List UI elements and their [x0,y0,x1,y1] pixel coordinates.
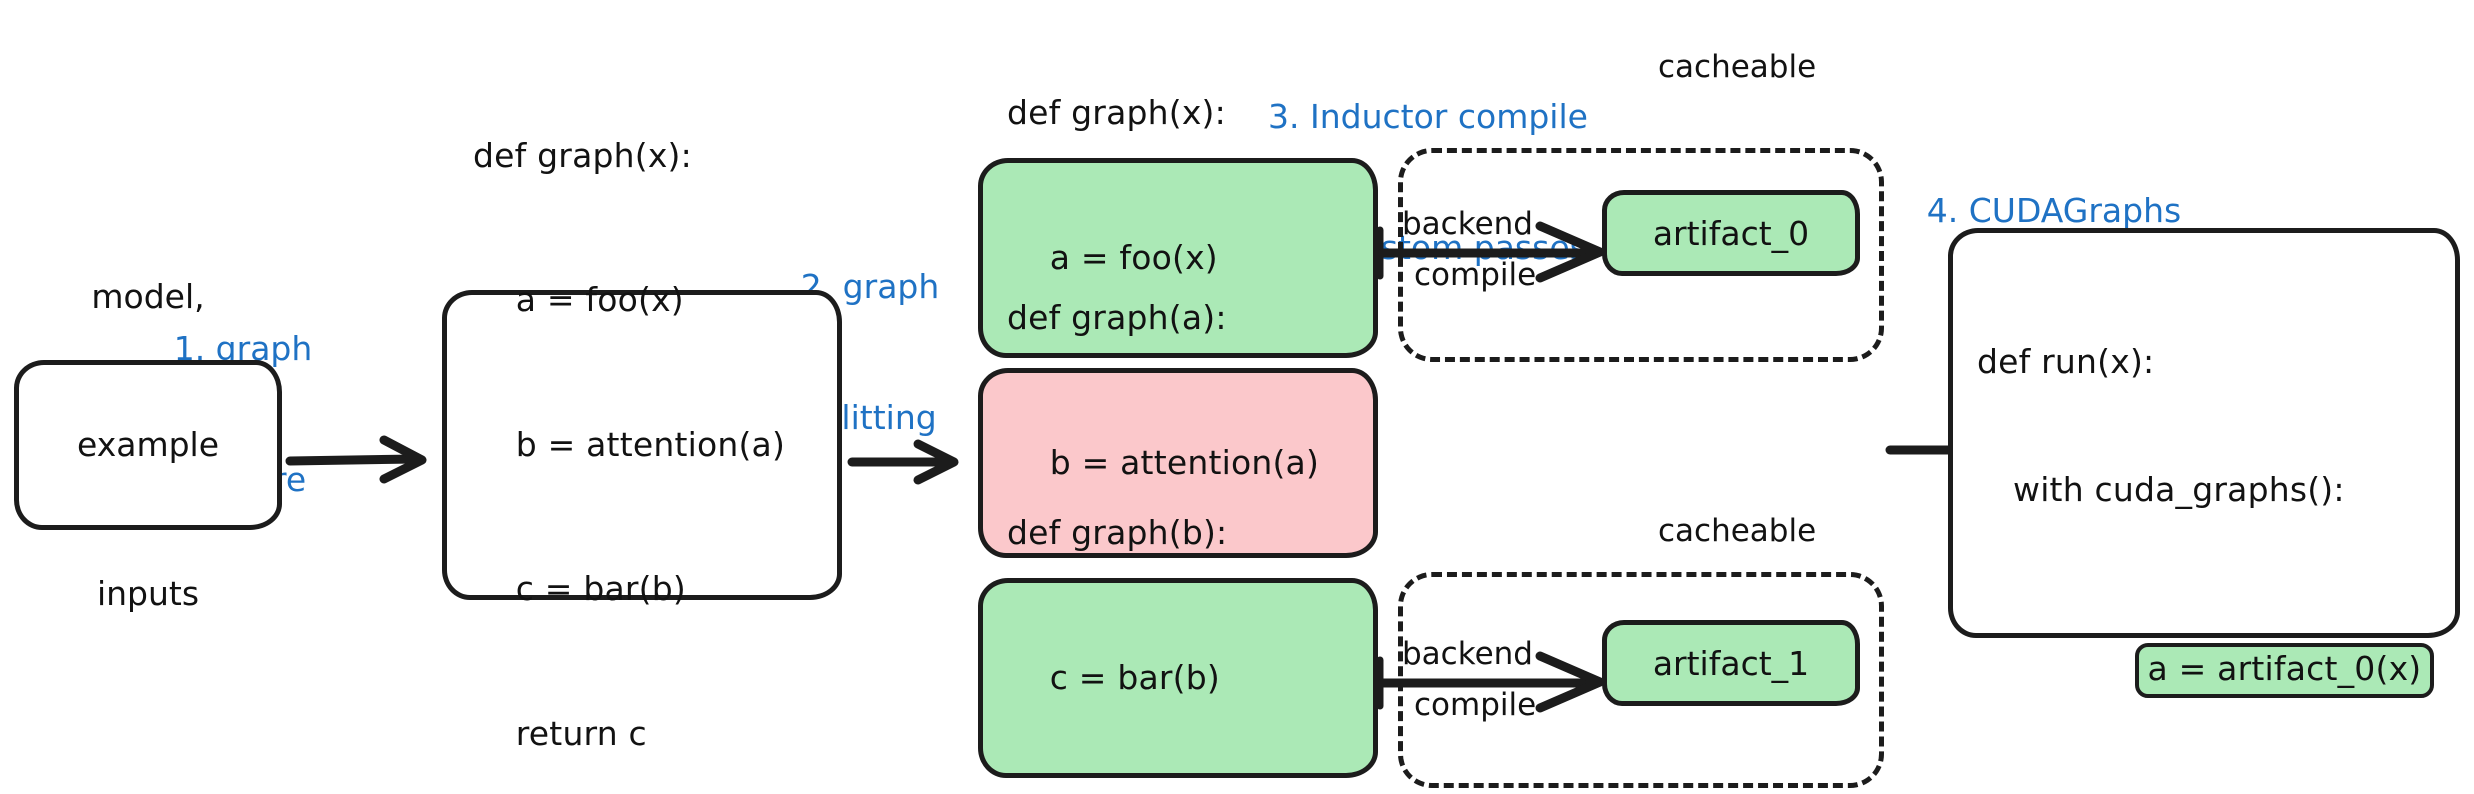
cacheable-0-edge-label-bottom: compile [1414,256,1536,295]
captured-graph-line-1: def graph(x): [473,132,811,180]
runtime-line-1: def run(x): [1977,341,2431,384]
captured-graph-line-4: c = bar(b) [473,565,811,613]
split-graph-0-line-1: def graph(x): [1007,89,1349,137]
input-box-text: model, example inputs [77,173,219,718]
arrow-capture-to-split [850,432,980,492]
runtime-line-3: a = artifact_0(x) [2135,643,2435,698]
captured-graph-box: def graph(x): a = foo(x) b = attention(a… [442,290,842,600]
runtime-wrapper-box: def run(x): with cuda_graphs(): a = arti… [1948,228,2460,638]
input-box: model, example inputs [14,360,282,530]
cacheable-1-edge-label-top: backend [1402,635,1533,674]
split-graph-2-line-2: c = bar(b) [1007,654,1349,702]
runtime-wrapper-code: def run(x): with cuda_graphs(): a = arti… [1977,255,2431,794]
step-label-4-line1: 4. CUDAGraphs [1884,189,2224,233]
captured-graph-line-3: b = attention(a) [473,421,811,469]
captured-graph-line-5: return c [473,710,811,758]
cacheable-1-edge-label-bottom: compile [1414,686,1536,725]
input-box-line-1: model, [77,272,219,322]
split-graph-2-line-1: def graph(b): [1007,509,1349,557]
artifact-0-chip: artifact_0 [1602,190,1860,276]
split-graph-1-line-1: def graph(a): [1007,294,1349,342]
input-box-line-2: example [77,420,219,470]
split-graph-2-code: def graph(b): c = bar(b) return c [1007,413,1349,794]
runtime-line-2: with cuda_graphs(): [2013,469,2431,512]
captured-graph-line-2: a = foo(x) [473,276,811,324]
cacheable-1-label: cacheable [1658,512,1816,551]
diagram-canvas: 1. graph capture 2. graph splitting 3. I… [0,0,2474,794]
input-box-line-3: inputs [77,569,219,619]
arrow-input-to-capture [288,430,448,490]
artifact-1-chip: artifact_1 [1602,620,1860,706]
cacheable-0-edge-label-top: backend [1402,205,1533,244]
split-graph-2-box: def graph(b): c = bar(b) return c [978,578,1378,778]
captured-graph-code: def graph(x): a = foo(x) b = attention(a… [473,36,811,794]
cacheable-0-label: cacheable [1658,48,1816,87]
